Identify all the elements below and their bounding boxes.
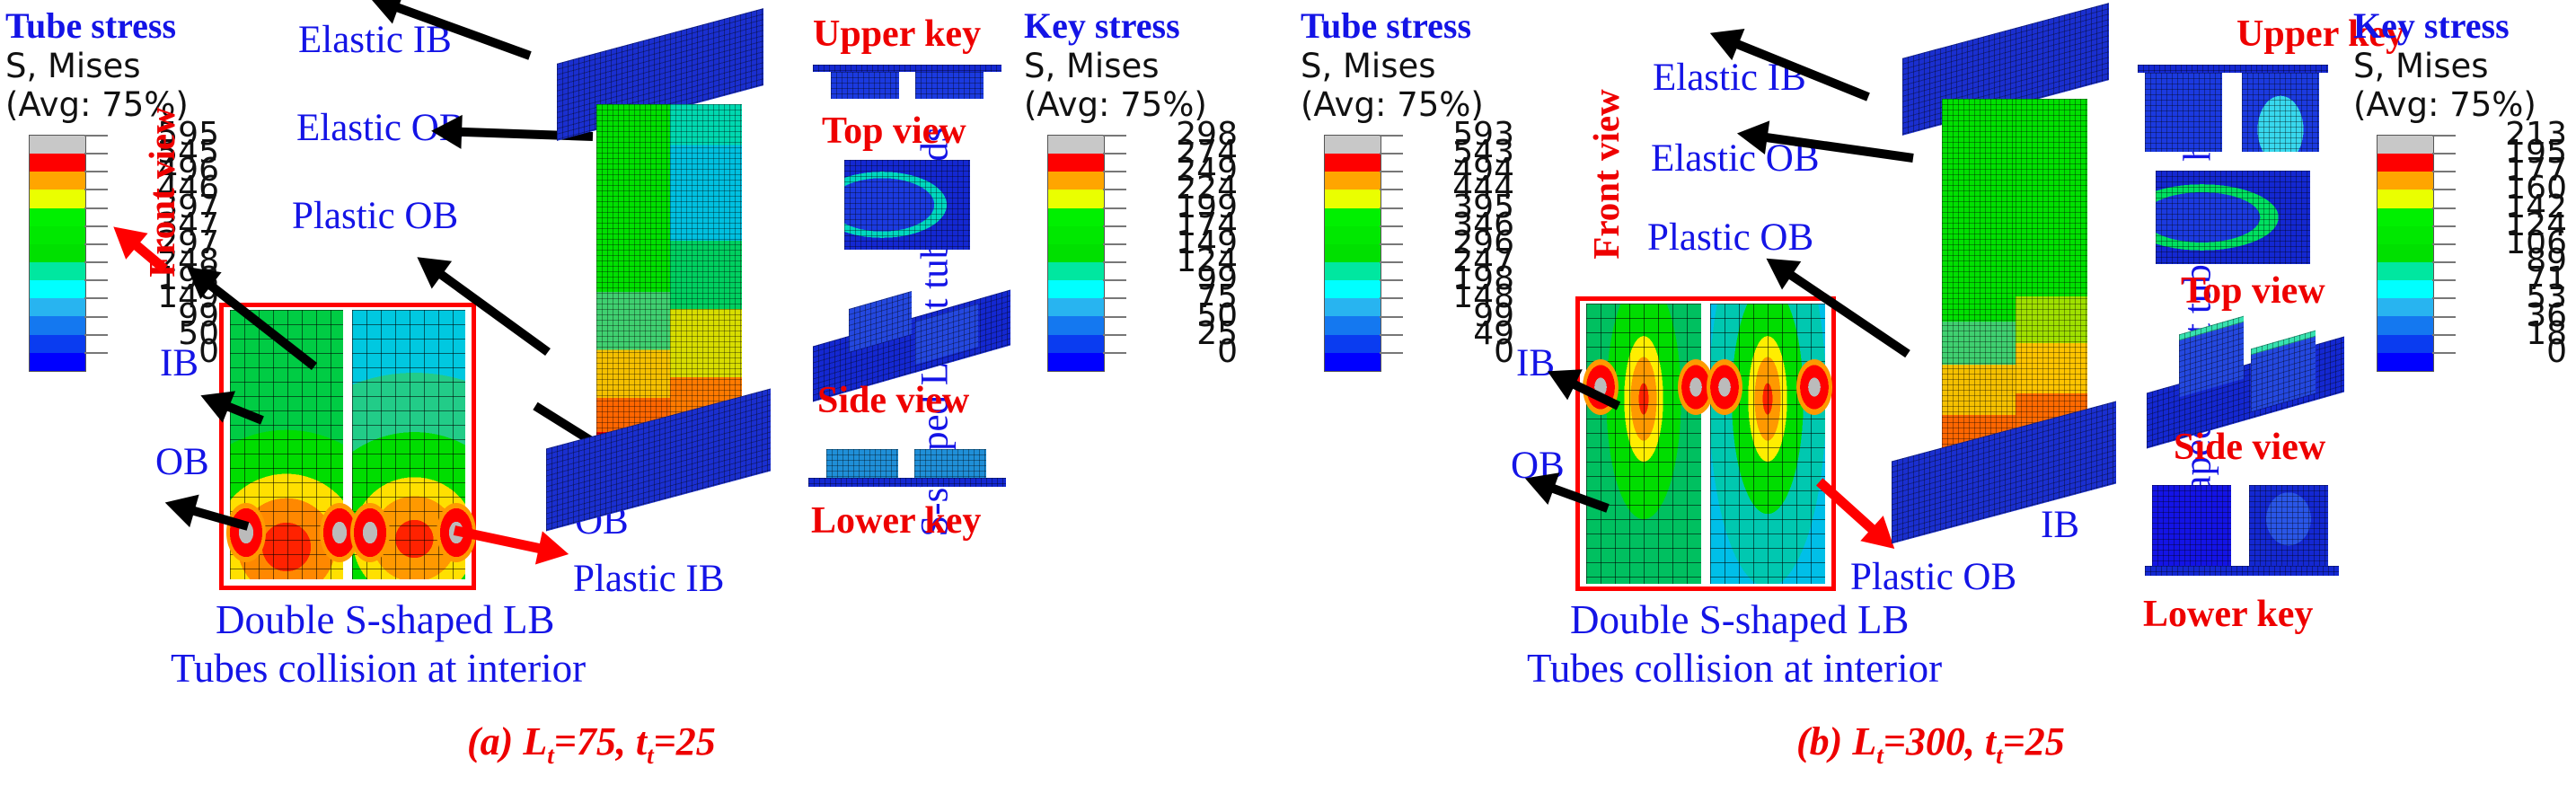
legend-band (2378, 172, 2433, 190)
legend-value: 0 (1217, 336, 1238, 368)
legend-tick (1103, 243, 1126, 245)
side-view-img-a (813, 287, 1010, 386)
caption-t: t (1985, 719, 1996, 763)
legend-title: Tube stress (5, 5, 230, 47)
caption-Lsub: t (1876, 742, 1883, 769)
legend-band (1325, 244, 1381, 262)
legend-tick (1380, 352, 1403, 354)
legend-tick (84, 279, 108, 281)
legend-band (2378, 335, 2433, 353)
legend-band (2378, 226, 2433, 244)
plastic-ob-label-b: Plastic OB (1850, 555, 2016, 599)
legend-band (1048, 280, 1104, 298)
caption-tval: =25 (2003, 719, 2065, 763)
legend-tick (84, 135, 108, 137)
legend-band (1048, 172, 1104, 190)
legend-tick (1103, 352, 1126, 354)
legend-tick (2432, 279, 2456, 281)
top-view-label-a: Top view (822, 110, 966, 153)
legend-band (30, 172, 85, 190)
legend-tick (84, 171, 108, 172)
legend-tick (1380, 316, 1403, 318)
elastic-ib-label-a: Elastic IB (298, 18, 452, 62)
legend-colorbar (1047, 135, 1105, 372)
legend-tick (1380, 135, 1403, 137)
figure-root: Tube stress S, Mises (Avg: 75%) 59554549… (0, 0, 2576, 785)
legend-tick (2432, 261, 2456, 263)
legend-band (1048, 136, 1104, 154)
tube-left-section-b (1586, 304, 1701, 584)
legend-tick (2432, 207, 2456, 209)
upper-key-view-a (813, 65, 1001, 101)
tubes-collision-label-a: Tubes collision at interior (171, 645, 586, 692)
legend-ticks (2432, 135, 2456, 370)
caption-L: L (1852, 719, 1876, 763)
legend-band (1325, 262, 1381, 280)
legend-tick (1103, 207, 1126, 209)
side-view-img-b (2147, 320, 2344, 428)
double-s-label-a: Double S-shaped LB (216, 596, 554, 643)
legend-band (1048, 316, 1104, 334)
legend-tick (2432, 334, 2456, 336)
upper-key-label-a: Upper key (813, 13, 981, 56)
legend-band (30, 190, 85, 207)
caption-Lval: =75, (554, 719, 636, 763)
legend-band (30, 316, 85, 334)
legend-band (1048, 298, 1104, 316)
caption-t: t (636, 719, 647, 763)
plastic-ob-label-a: Plastic OB (292, 194, 458, 238)
tube-face-right-b (2016, 99, 2087, 458)
legend-band (30, 353, 85, 371)
tube-face-left-a (596, 104, 670, 445)
legend-field: S, Mises (5, 47, 230, 85)
legend-band (1048, 226, 1104, 244)
panel-caption-b: (b) Lt=300, tt=25 (1796, 719, 2065, 770)
legend-tick (1380, 261, 1403, 263)
legend-tick (1380, 207, 1403, 209)
side-view-label-a: Side view (817, 379, 969, 422)
legend-value: 0 (1494, 336, 1514, 368)
legend-band (1325, 154, 1381, 172)
legend-tick (1380, 243, 1403, 245)
tube-face-right-a (670, 104, 742, 445)
legend-tick (1103, 261, 1126, 263)
tube-column-3d-a (539, 18, 808, 521)
caption-L: L (523, 719, 547, 763)
legend-tick (1103, 297, 1126, 299)
legend-tick (84, 225, 108, 227)
caption-tval: =25 (654, 719, 716, 763)
caption-prefix: (a) (467, 719, 523, 763)
legend-band (2378, 280, 2433, 298)
legend-ticks (84, 135, 108, 370)
hinge-mid2-a (350, 503, 390, 562)
legend-tube-stress-a: Tube stress S, Mises (Avg: 75%) 59554549… (5, 5, 230, 397)
legend-value: 0 (198, 336, 219, 368)
legend-tick (84, 207, 108, 209)
legend-tick (1103, 171, 1126, 172)
top-view-img-b (2156, 171, 2310, 264)
legend-band (2378, 154, 2433, 172)
legend-band (30, 262, 85, 280)
legend-tick (1380, 171, 1403, 172)
legend-band (30, 136, 85, 154)
legend-band (1048, 353, 1104, 371)
legend-value: 0 (2546, 336, 2567, 368)
ob-left-label-a: OB (155, 440, 209, 484)
legend-tick (2432, 153, 2456, 154)
lower-key-view-b (2145, 485, 2339, 580)
legend-tick (1380, 334, 1403, 336)
legend-band (30, 298, 85, 316)
legend-tube-stress-b: Tube stress S, Mises (Avg: 75%) 59354349… (1301, 5, 1525, 397)
legend-band (30, 208, 85, 226)
tube-face-left-b (1942, 99, 2016, 458)
legend-band (1325, 335, 1381, 353)
legend-tick (84, 261, 108, 263)
legend-tick (1103, 316, 1126, 318)
plastic-ib-label-a: Plastic IB (573, 557, 724, 601)
legend-band (30, 244, 85, 262)
legend-band (1325, 136, 1381, 154)
legend-tick (84, 297, 108, 299)
legend-tick (1380, 279, 1403, 281)
upper-key-view-b (2138, 65, 2328, 160)
lower-key-view-a (808, 449, 1006, 489)
legend-title: Tube stress (1301, 5, 1525, 47)
legend-band (1325, 190, 1381, 207)
legend-band (2378, 316, 2433, 334)
legend-tick (1103, 334, 1126, 336)
legend-ticks (1103, 135, 1126, 370)
legend-tick (84, 243, 108, 245)
legend-band (2378, 244, 2433, 262)
legend-band (1325, 172, 1381, 190)
legend-tick (1103, 225, 1126, 227)
legend-tick (84, 352, 108, 354)
legend-band (2378, 190, 2433, 207)
legend-band (2378, 353, 2433, 371)
legend-tick (2432, 225, 2456, 227)
legend-tick (2432, 189, 2456, 190)
legend-tick (1103, 279, 1126, 281)
hinge-right-b (1796, 359, 1832, 415)
legend-band (1048, 208, 1104, 226)
double-s-label-b: Double S-shaped LB (1570, 596, 1909, 643)
legend-band (1048, 154, 1104, 172)
side-view-label-b: Side view (2174, 426, 2325, 469)
legend-tick (1103, 135, 1126, 137)
legend-tick (1103, 189, 1126, 190)
legend-band (30, 154, 85, 172)
legend-colorbar (1324, 135, 1381, 372)
caption-prefix: (b) (1796, 719, 1852, 763)
legend-band (1325, 208, 1381, 226)
legend-tick (2432, 171, 2456, 172)
panel-caption-a: (a) Lt=75, tt=25 (467, 719, 716, 770)
legend-tick (84, 189, 108, 190)
tube-column-3d-b (1884, 18, 2154, 539)
legend-band (30, 335, 85, 353)
legend-band (1325, 226, 1381, 244)
legend-band (2378, 262, 2433, 280)
legend-band (2378, 298, 2433, 316)
legend-band (1325, 298, 1381, 316)
legend-band (1048, 262, 1104, 280)
front-view-label-b: Front view (1584, 80, 1628, 269)
legend-band (1325, 316, 1381, 334)
legend-ticks (1380, 135, 1403, 370)
legend-tick (1380, 189, 1403, 190)
legend-title: Key stress (1024, 5, 1248, 47)
legend-colorbar (2377, 135, 2434, 372)
lower-key-label-a: Lower key (811, 499, 981, 542)
legend-band (1325, 280, 1381, 298)
legend-band (30, 226, 85, 244)
legend-band (30, 280, 85, 298)
legend-band (2378, 136, 2433, 154)
legend-tick (1103, 153, 1126, 154)
legend-tick (2432, 316, 2456, 318)
hinge-left-a (226, 503, 266, 562)
legend-tick (2432, 352, 2456, 354)
ib-label-a: IB (160, 341, 198, 385)
legend-band (1048, 335, 1104, 353)
top-view-img-a (844, 160, 970, 250)
legend-tick (84, 316, 108, 318)
legend-band (2378, 208, 2433, 226)
tube-right-section-b (1710, 304, 1825, 584)
legend-tick (84, 153, 108, 154)
caption-tsub: t (647, 742, 654, 769)
legend-field: S, Mises (2353, 47, 2576, 85)
legend-tick (1380, 225, 1403, 227)
legend-key-stress-a: Key stress S, Mises (Avg: 75%) 298274249… (1024, 5, 1248, 397)
legend-band (1048, 244, 1104, 262)
legend-tick (2432, 243, 2456, 245)
legend-colorbar (29, 135, 86, 372)
legend-tick (1380, 153, 1403, 154)
legend-tick (2432, 297, 2456, 299)
caption-tsub: t (1996, 742, 2003, 769)
caption-Lval: =300, (1883, 719, 1985, 763)
legend-band (1325, 353, 1381, 371)
tubes-collision-label-b: Tubes collision at interior (1527, 645, 1942, 692)
caption-Lsub: t (547, 742, 554, 769)
legend-tick (2432, 135, 2456, 137)
legend-key-stress-b: Key stress S, Mises (Avg: 75%) 213195177… (2353, 5, 2576, 397)
legend-band (1048, 190, 1104, 207)
legend-tick (1380, 297, 1403, 299)
top-view-label-b: Top view (2181, 269, 2325, 313)
lower-key-label-b: Lower key (2143, 593, 2313, 636)
legend-field: S, Mises (1301, 47, 1525, 85)
legend-field: S, Mises (1024, 47, 1248, 85)
legend-title: Key stress (2353, 5, 2576, 47)
legend-tick (84, 334, 108, 336)
hinge-mid2-b (1707, 359, 1742, 415)
